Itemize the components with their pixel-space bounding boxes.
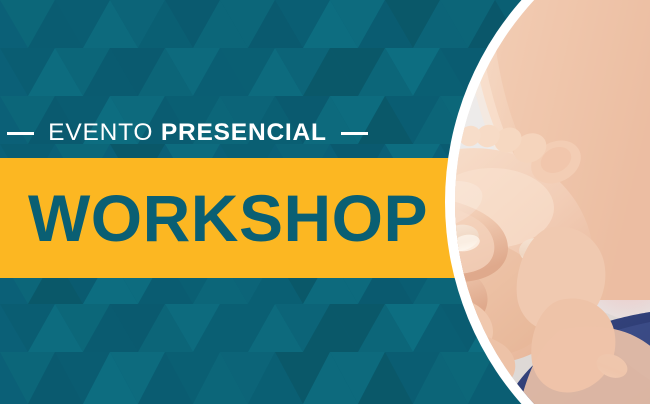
event-banner: EVENTO PRESENCIAL WORKSHOP <box>0 0 650 404</box>
eyebrow-space <box>153 119 161 146</box>
eyebrow-lead: EVENTO <box>48 119 153 146</box>
eyebrow-emphasis: PRESENCIAL <box>161 119 327 146</box>
eyebrow-right-rule-icon <box>341 132 368 135</box>
headline-workshop: WORKSHOP <box>28 176 428 260</box>
eyebrow: EVENTO PRESENCIAL <box>0 118 375 148</box>
eyebrow-left-rule-icon <box>7 132 34 135</box>
eyebrow-label: EVENTO PRESENCIAL <box>48 119 327 147</box>
